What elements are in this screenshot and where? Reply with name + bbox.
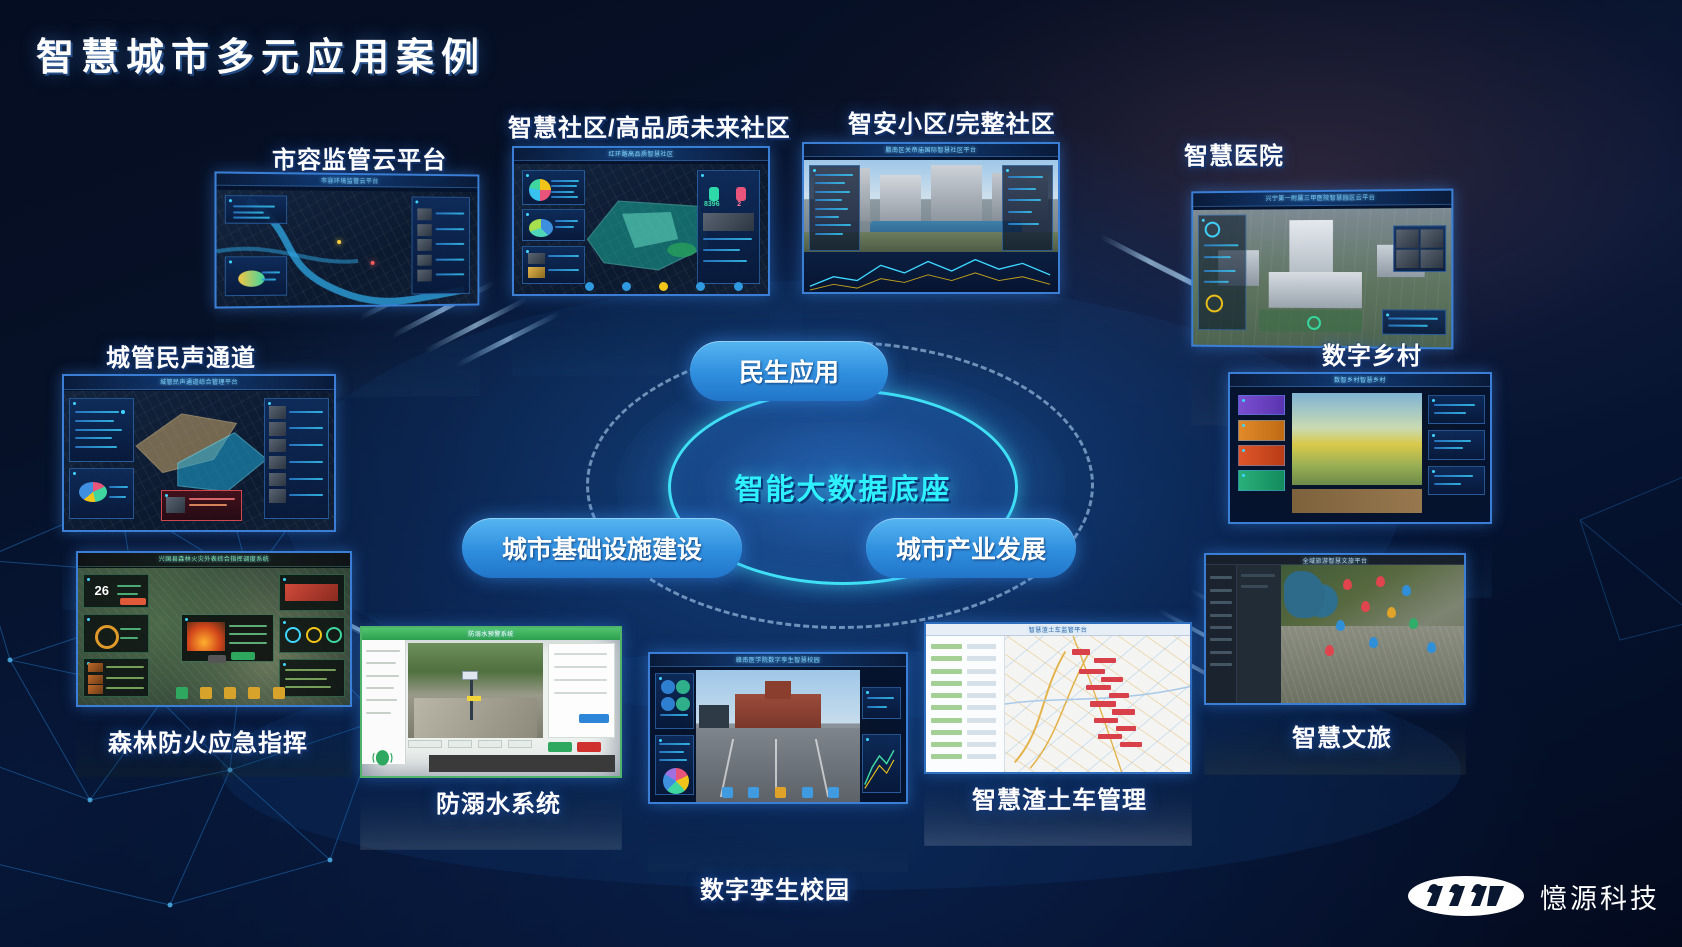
toolbar-icons[interactable]: [176, 687, 285, 699]
slide-canvas: 智慧城市多元应用案例 市容环境监管云平台: [0, 0, 1682, 947]
case-screen-chengguan[interactable]: 城管民声通道综合管理平台: [62, 374, 336, 532]
stat-primary: 8396: [704, 201, 720, 208]
village-photo-strip: [1292, 489, 1422, 513]
yyy-ellipse-logo-icon: [1406, 873, 1526, 919]
form-action-buttons[interactable]: [548, 742, 601, 752]
case-screen-shirong[interactable]: 市容环境监管云平台: [214, 171, 479, 308]
case-screen-fangnishui[interactable]: 防溺水预警系统: [360, 626, 622, 778]
case-label-shirong: 市容监管云平台: [272, 140, 447, 175]
panel-summary: [279, 659, 344, 697]
bottom-nav[interactable]: [722, 787, 840, 798]
temperature-value: 26: [95, 583, 109, 598]
stat-secondary: 2: [737, 201, 741, 208]
panel-right-1: [1428, 395, 1485, 425]
screen-title-zhian: 鹏南区关帝庙国际智慧社区平台: [804, 145, 1058, 154]
status-bar: [429, 755, 615, 771]
panel-right-stats: 8396 2: [697, 170, 761, 284]
reflection-xiaoyuan: [648, 804, 908, 872]
page-title: 智慧城市多元应用案例: [36, 26, 486, 81]
case-screen-xiangcun[interactable]: 数智乡村智慧乡村: [1228, 372, 1492, 524]
case-screen-wenlv[interactable]: 全域旅游智慧文旅平台: [1204, 553, 1466, 705]
panel-poi-list[interactable]: [1237, 565, 1281, 703]
nav-item-2[interactable]: [1238, 420, 1285, 441]
case-label-yiyuan: 智慧医院: [1184, 136, 1284, 171]
case-screen-shequ[interactable]: 红环路高品质智慧社区 8396 2: [512, 146, 770, 296]
hub-pill-jichusheshi[interactable]: 城市基础设施建设: [462, 518, 742, 578]
panel-stats-left: [225, 195, 287, 224]
village-photo: [1292, 393, 1422, 485]
panel-rings: [279, 617, 344, 653]
panel-campus-stats: [655, 673, 693, 729]
campus-gate-photo: [696, 670, 860, 802]
nav-item-1[interactable]: [1238, 395, 1285, 416]
case-screen-zhian[interactable]: 鹏南区关帝庙国际智慧社区平台: [802, 142, 1060, 294]
case-screen-zhatuche[interactable]: 智慧渣土车监管平台: [924, 622, 1192, 774]
panel-weather: 26: [83, 574, 148, 607]
panel-right-info: [862, 687, 900, 720]
case-label-xiangcun: 数字乡村: [1322, 336, 1422, 371]
case-label-wenlv: 智慧文旅: [1292, 718, 1392, 753]
fire-photo: [187, 622, 225, 651]
core-label: 智能大数据底座: [734, 466, 951, 508]
brand-logo: 憶源科技: [1406, 873, 1660, 919]
case-screen-xiaoyuan[interactable]: 赣南医学院数字孪生智慧校园: [648, 652, 908, 804]
nav-item-3[interactable]: [1238, 445, 1285, 466]
panel-event-feed: [264, 398, 329, 520]
panel-camera-grid: [1393, 225, 1446, 272]
panel-notice: [279, 574, 344, 610]
panel-donut: [522, 170, 586, 205]
nav-item-4[interactable]: [1238, 470, 1285, 491]
route-map[interactable]: [1005, 636, 1190, 772]
screen-title-wenlv: 全域旅游智慧文旅平台: [1206, 556, 1464, 565]
case-label-senlin: 森林防火应急指挥: [108, 723, 308, 758]
district-polygons: [123, 404, 274, 499]
case-label-zhatuche: 智慧渣土车管理: [972, 780, 1147, 815]
case-label-xiaoyuan: 数字孪生校园: [700, 870, 850, 905]
panel-events-right: [412, 196, 470, 294]
hub-pill-chanye[interactable]: 城市产业发展: [866, 518, 1076, 578]
case-label-chengguan: 城管民声通道: [106, 338, 256, 373]
speaker-icon[interactable]: [367, 746, 398, 770]
case-label-zhian: 智安小区/完整社区: [848, 104, 1056, 139]
panel-right-2: [1428, 430, 1485, 460]
panel-person-stats: [655, 735, 693, 794]
panel-vehicle-list[interactable]: [926, 636, 1005, 772]
panel-gauge: [83, 614, 148, 654]
panel-form[interactable]: [548, 643, 615, 738]
panel-population: [522, 209, 586, 241]
screen-title-xiaoyuan: 赣南医学院数字孪生智慧校园: [650, 655, 906, 664]
screen-title-xiangcun: 数智乡村智慧乡村: [1230, 375, 1490, 384]
case-label-fangnishui: 防溺水系统: [436, 784, 561, 819]
panel-right-list: [1002, 165, 1053, 251]
panel-chart-left: [225, 256, 287, 296]
panel-chart-bottom: [804, 252, 1058, 292]
panel-bottom-right: [1382, 309, 1446, 334]
panel-sidebar-nav[interactable]: [1206, 565, 1237, 703]
screen-title-shequ: 红环路高品质智慧社区: [514, 149, 768, 158]
company-name: 憶源科技: [1540, 877, 1660, 916]
reservoir-photo: [408, 643, 542, 738]
tourism-satellite-map[interactable]: [1281, 565, 1464, 703]
panel-news: [522, 246, 586, 284]
panel-left-metrics: [1198, 214, 1246, 330]
case-label-shequ: 智慧社区/高品质未来社区: [508, 108, 791, 143]
panel-alert: [161, 490, 242, 521]
filter-controls[interactable]: [408, 740, 532, 748]
panel-sliders: [69, 398, 134, 463]
screen-title-chengguan: 城管民声通道综合管理平台: [64, 377, 334, 386]
panel-pie: [69, 468, 134, 519]
panel-curve-chart: [862, 734, 900, 793]
case-screen-senlin[interactable]: 兴国县森林火灾外表综合指挥调度系统 26: [76, 551, 352, 707]
bottom-nav[interactable]: [585, 282, 742, 291]
panel-right-3: [1428, 466, 1485, 496]
screen-title-senlin: 兴国县森林火灾外表综合指挥调度系统: [78, 554, 350, 563]
hub-pill-minsheng[interactable]: 民生应用: [690, 341, 888, 401]
panel-alerts: [83, 658, 148, 698]
panel-left-list: [809, 165, 860, 251]
panel-fire-popup[interactable]: [181, 614, 273, 663]
case-screen-yiyuan[interactable]: 兴宁第一附属三甲医院智慧园区云平台: [1191, 189, 1453, 350]
